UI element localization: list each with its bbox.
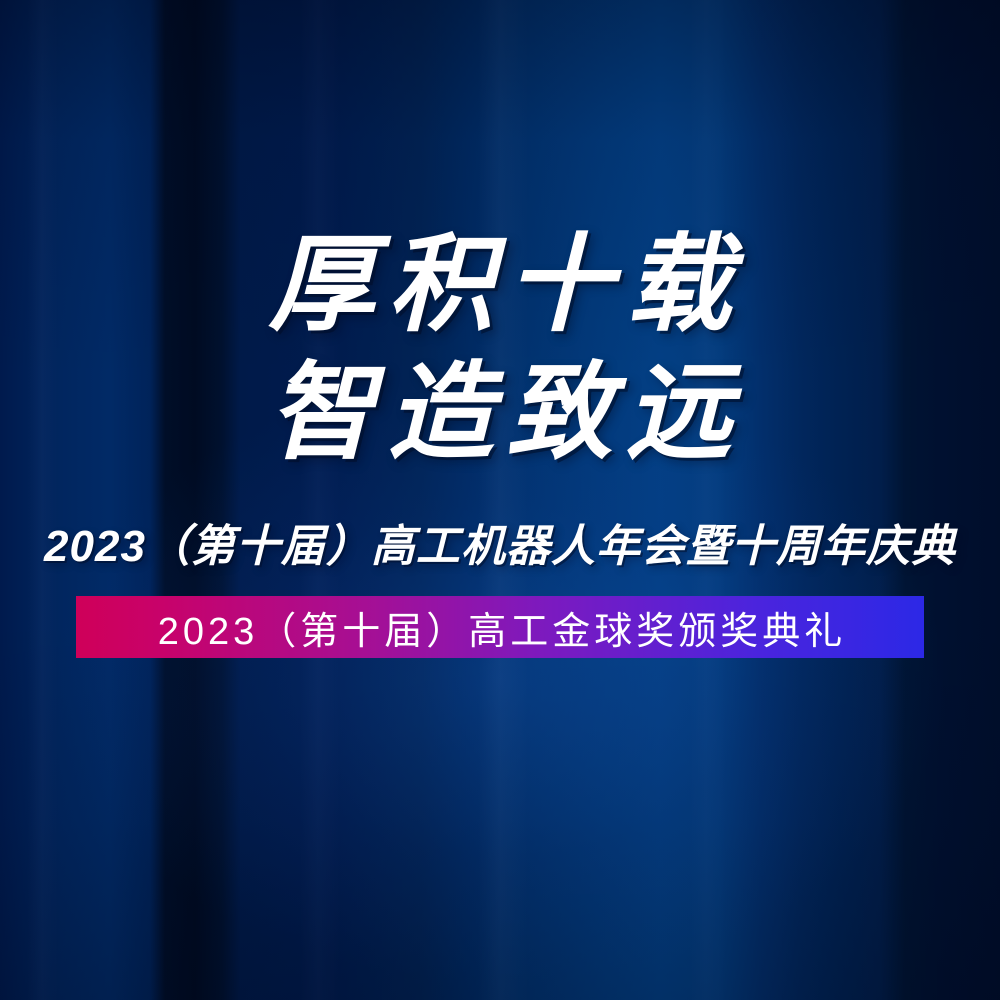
poster-headline: 厚积十载 智造致远 [256,232,745,466]
event-poster: 厚积十载 智造致远 2023（第十届）高工机器人年会暨十周年庆典 2023（第十… [0,0,1000,1000]
award-ceremony-banner: 2023（第十届）高工金球奖颁奖典礼 [76,596,924,658]
award-ceremony-banner-text: 2023（第十届）高工金球奖颁奖典礼 [154,600,847,655]
poster-content: 厚积十载 智造致远 2023（第十届）高工机器人年会暨十周年庆典 2023（第十… [0,0,1000,1000]
headline-line-1: 厚积十载 [256,232,745,338]
headline-line-2: 智造致远 [256,360,745,466]
poster-subtitle: 2023（第十届）高工机器人年会暨十周年庆典 [44,510,956,574]
